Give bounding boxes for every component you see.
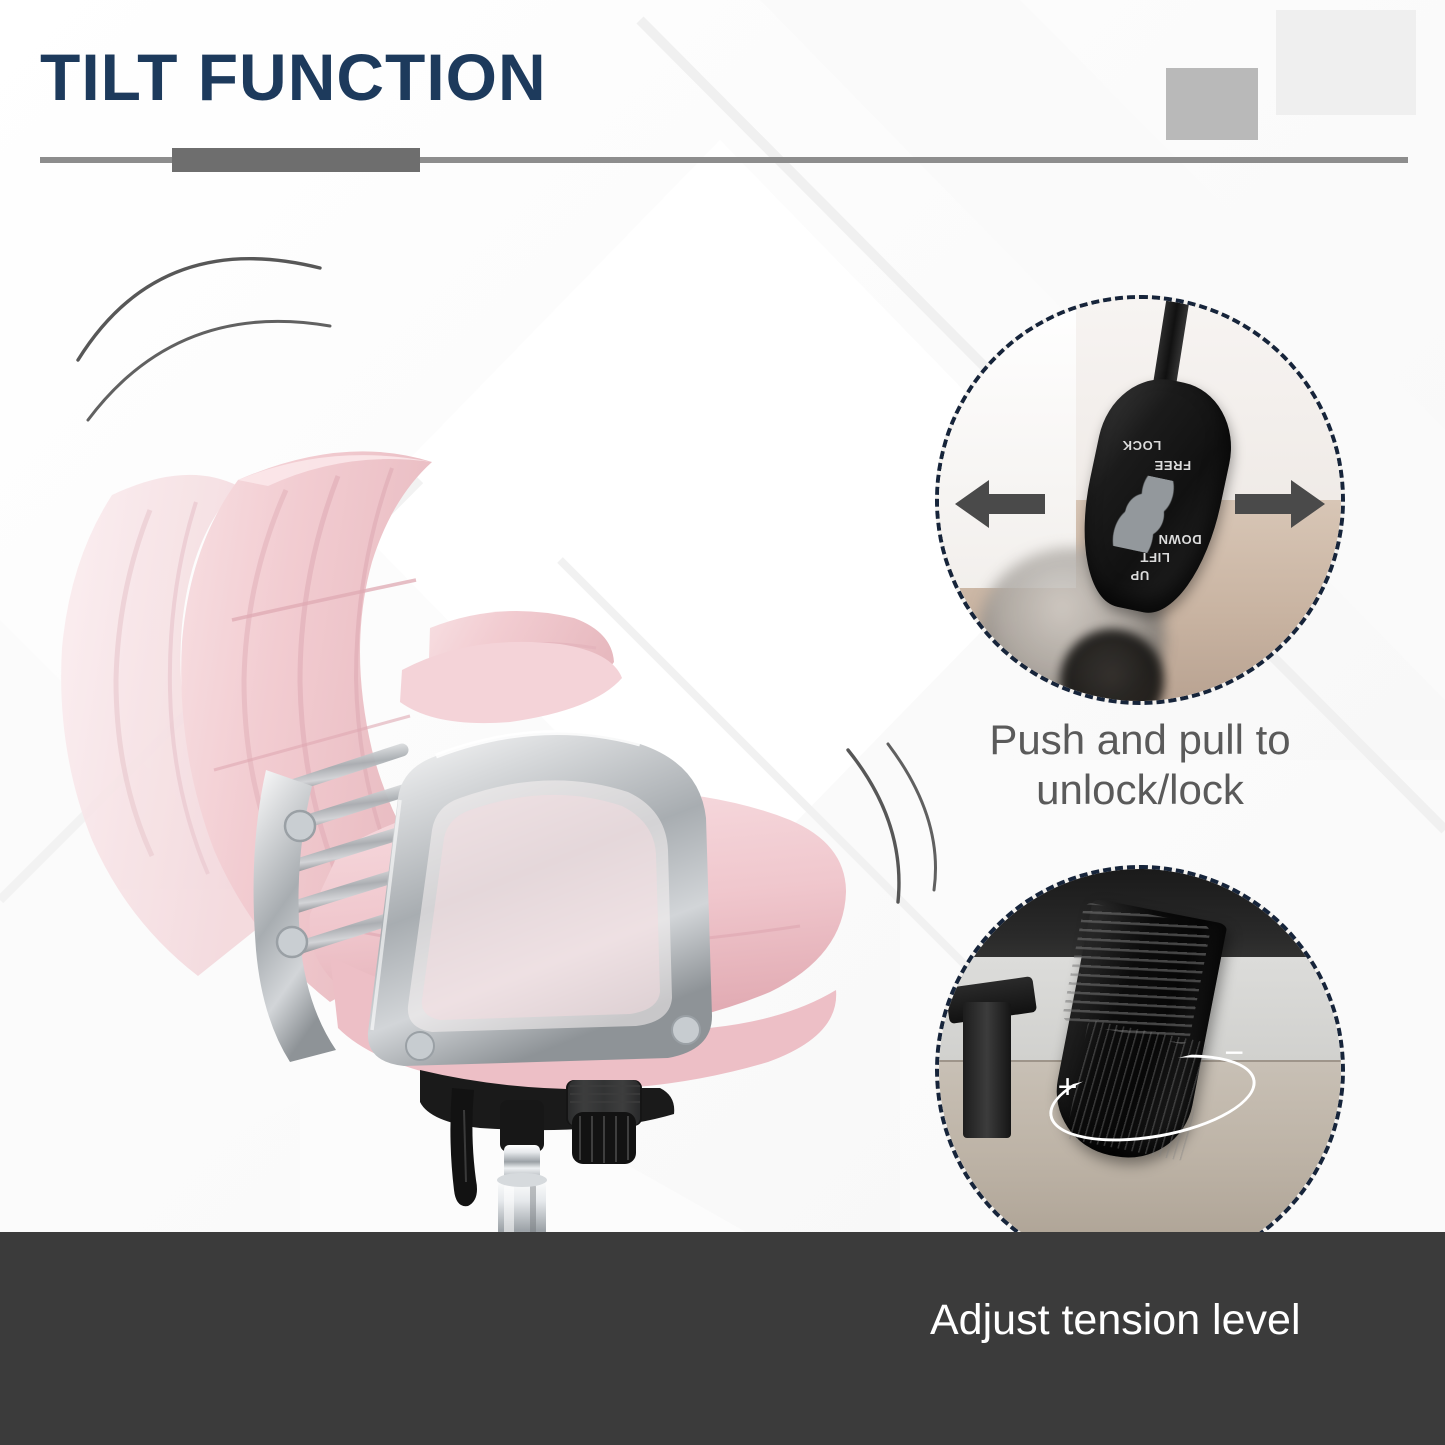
lever-label-lift: LIFT [1140,550,1170,565]
callout-caption-lock: Push and pull to unlock/lock [900,715,1380,814]
tension-knob-photo: + − [939,869,1341,1271]
tension-decrease-icon: − [1224,1036,1244,1070]
arrow-left-icon [955,476,1045,532]
footer-caption: Adjust tension level [930,1297,1430,1344]
lever-label-down: DOWN [1158,532,1202,547]
tension-knob [566,1080,642,1164]
caption-lock-line2: unlock/lock [900,765,1380,815]
decorative-square-light [1276,10,1416,115]
callout-circle-tension: + − [935,865,1345,1275]
chair-armrest-frame [254,732,712,1066]
infographic-canvas: TILT FUNCTION [0,0,1445,1445]
callout-tension-knob: + − [935,865,1345,1275]
lever-label-up: UP [1130,568,1149,583]
arrow-right-icon [1235,476,1325,532]
page-title: TILT FUNCTION [40,44,547,110]
chair-tilt-mechanism [420,1070,674,1206]
tilt-motion-arcs-left [78,259,330,420]
tilt-lever-photo: LOCK FREE DOWN LIFT UP [939,299,1341,701]
callout-circle-lock: LOCK FREE DOWN LIFT UP [935,295,1345,705]
photo-background-leftwall [939,299,1076,588]
tension-knob-threads [1061,902,1210,1045]
decorative-square-gray [1166,68,1258,140]
tension-increase-icon: + [1058,1070,1078,1104]
caption-lock-line1: Push and pull to [900,715,1380,765]
lever-label-lock: LOCK [1122,438,1161,453]
lever-label-free: FREE [1154,458,1191,473]
callout-tilt-lock-lever: LOCK FREE DOWN LIFT UP [935,295,1345,705]
photo-chair-leg [963,1002,1011,1139]
